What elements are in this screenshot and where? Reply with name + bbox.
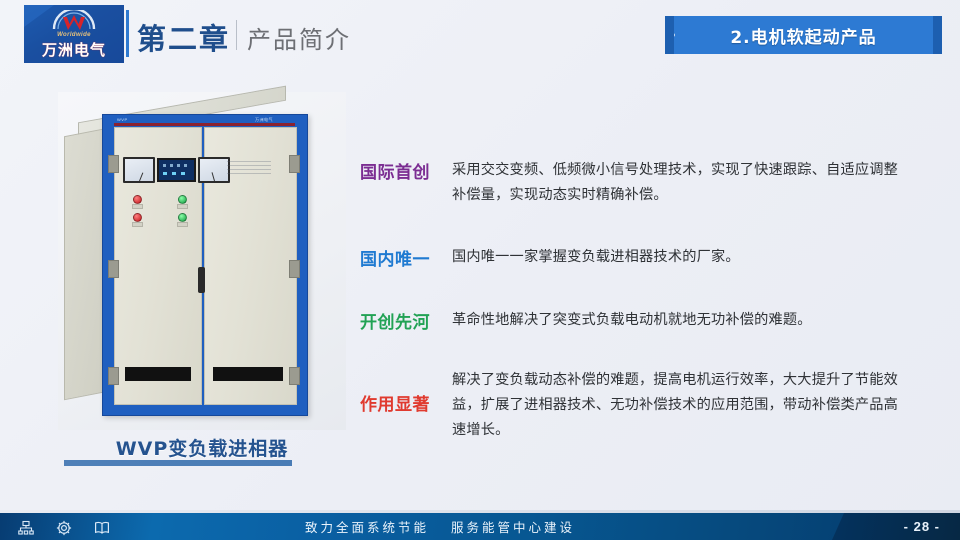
feature-point: 开创先河 革命性地解决了突变式负载电动机就地无功补偿的难题。 — [360, 308, 907, 333]
slide-canvas: Worldwide 万洲电气 第二章 产品简介 2.电机软起动产品 WVP 万洲… — [0, 0, 960, 540]
indicator-lamp-tag — [177, 222, 188, 227]
cabinet-hinge — [289, 367, 300, 385]
digital-display-label-row — [163, 164, 191, 167]
cabinet-label-left: WVP — [117, 117, 128, 122]
cabinet-brand-plate — [227, 161, 271, 177]
logo-company-name: 万洲电气 — [24, 39, 124, 60]
analog-meter-left — [123, 157, 155, 183]
digital-display-segments — [163, 172, 190, 175]
indicator-lamp-tag — [132, 222, 143, 227]
title-accent-bar — [126, 10, 129, 57]
feature-point: 国际首创 采用交交变频、低频微小信号处理技术，实现了快速跟踪、自适应调整补偿量，… — [360, 158, 907, 208]
product-photo: WVP 万洲电气 — [58, 92, 346, 430]
page-subtitle: 产品简介 — [247, 20, 351, 55]
logo-latin-name: Worldwide — [24, 32, 124, 38]
digital-display — [157, 158, 196, 182]
feature-point-label: 开创先河 — [360, 308, 452, 333]
feature-point-label: 国内唯一 — [360, 245, 452, 270]
feature-point-text: 国内唯一一家掌握变负载进相器技术的厂家。 — [452, 245, 907, 270]
feature-point-label: 作用显著 — [360, 368, 452, 415]
feature-point: 国内唯一 国内唯一一家掌握变负载进相器技术的厂家。 — [360, 245, 907, 270]
meter-needle — [139, 173, 143, 182]
cabinet-hinge — [289, 260, 300, 278]
meter-needle — [212, 172, 215, 181]
cabinet-hinge — [108, 260, 119, 278]
title-separator — [236, 20, 237, 50]
cabinet-vent-right — [213, 367, 283, 381]
indicator-lamp-green — [178, 195, 187, 204]
cabinet-red-strip — [114, 123, 295, 126]
footer-slogan: 致力全面系统节能 服务能管中心建设 — [0, 513, 880, 540]
footer-slogan-right: 服务能管中心建设 — [451, 517, 575, 536]
logo-emblem-icon — [24, 10, 124, 34]
page-number: - 28 - — [904, 513, 940, 540]
company-logo: Worldwide 万洲电气 — [24, 5, 124, 63]
chapter-title: 第二章 — [137, 16, 230, 58]
cabinet-front-frame: WVP 万洲电气 — [102, 114, 308, 416]
cabinet-label-right: 万洲电气 — [255, 117, 273, 123]
cabinet-hinge — [108, 155, 119, 173]
cabinet-vent-left — [125, 367, 191, 381]
feature-point-text: 革命性地解决了突变式负载电动机就地无功补偿的难题。 — [452, 308, 907, 333]
indicator-lamp-tag — [177, 204, 188, 209]
feature-point-label: 国际首创 — [360, 158, 452, 183]
product-caption-underline — [64, 460, 292, 466]
product-caption: WVP变负载进相器 — [58, 434, 346, 461]
cabinet-hinge — [289, 155, 300, 173]
feature-point: 作用显著 解决了变负载动态补偿的难题，提高电机运行效率，大大提升了节能效益，扩展… — [360, 368, 912, 443]
cabinet-hinge — [108, 367, 119, 385]
feature-point-text: 采用交交变频、低频微小信号处理技术，实现了快速跟踪、自适应调整补偿量，实现动态实… — [452, 158, 907, 208]
indicator-lamp-green — [178, 213, 187, 222]
indicator-lamp-red — [133, 195, 142, 204]
indicator-lamp-tag — [132, 204, 143, 209]
analog-meter-right — [198, 157, 230, 183]
indicator-lamp-red — [133, 213, 142, 222]
footer-slogan-left: 致力全面系统节能 — [305, 517, 429, 536]
section-tag-label: 2.电机软起动产品 — [665, 16, 942, 54]
cabinet-door-handle — [198, 267, 205, 293]
feature-point-text: 解决了变负载动态补偿的难题，提高电机运行效率，大大提升了节能效益，扩展了进相器技… — [452, 368, 912, 443]
